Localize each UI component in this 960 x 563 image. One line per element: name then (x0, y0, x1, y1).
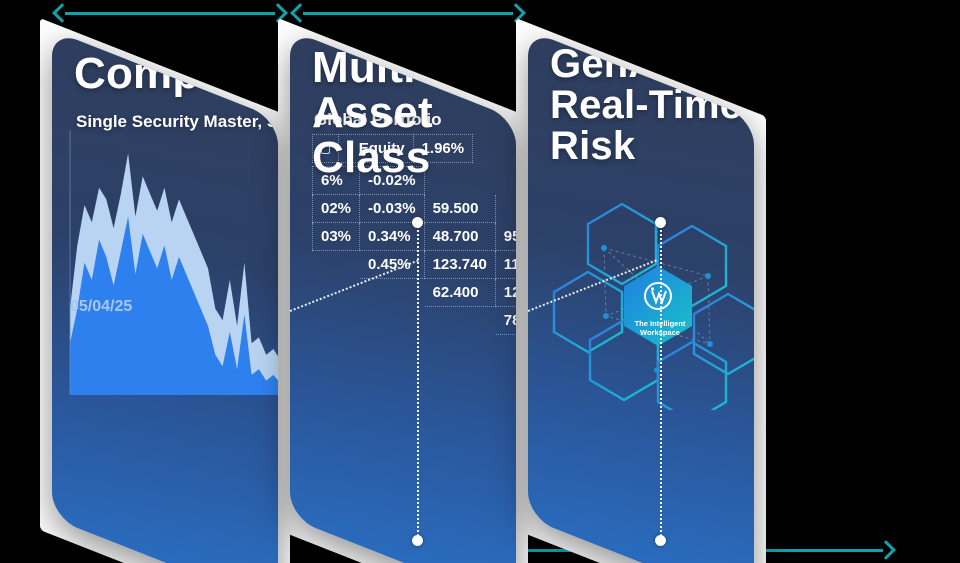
node-dot-bottom-right (655, 535, 666, 546)
card-comprehensive[interactable]: 05/04/25 Comprehensive Single Security M… (52, 30, 278, 563)
hexagon-network-graphic: The Intelligent Workspace (542, 180, 754, 410)
arrow-head-left-icon (293, 5, 305, 21)
table-cell: 112.570 (495, 251, 516, 279)
area-chart (68, 130, 278, 395)
table-cell: 59.500 (424, 195, 495, 223)
arrow-line (303, 12, 513, 15)
table-cell-empty (424, 307, 495, 335)
table-cell: 02% (313, 195, 360, 223)
arrow-head-left-icon (55, 5, 67, 21)
node-dot-bottom-left (412, 535, 423, 546)
table-cell-empty (360, 279, 425, 307)
diagram-canvas: 05/04/25 Comprehensive Single Security M… (0, 0, 960, 563)
table-row[interactable]: 0.45%123.740112.570 (313, 251, 517, 279)
table-cell: 78.300 (495, 307, 516, 335)
table-cell: 03% (313, 223, 360, 251)
table-row[interactable]: 78.300 (313, 307, 517, 335)
top-left-measure (55, 3, 285, 23)
table-cell-empty (313, 251, 360, 279)
hexagon-network-svg (542, 180, 754, 410)
table-cell: 62.400 (424, 279, 495, 307)
portfolio-data-table[interactable]: 6%-0.02%02%-0.03%59.50003%0.34%48.70095.… (312, 166, 516, 335)
table-cell: 48.700 (424, 223, 495, 251)
table-cell: 123.950 (495, 279, 516, 307)
table-body: 6%-0.02%02%-0.03%59.50003%0.34%48.70095.… (313, 167, 517, 335)
arrow-head-right-icon (881, 542, 893, 558)
node-dot-left (412, 217, 423, 228)
table-row[interactable]: 62.400123.950 (313, 279, 517, 307)
area-chart-svg (68, 130, 278, 395)
table-cell: 0.45% (360, 251, 425, 279)
node-dot-right (655, 217, 666, 228)
table-cell-empty (495, 195, 516, 223)
card-subtitle: Single Security Master, Single Data Plan… (76, 112, 278, 132)
table-cell-empty (360, 307, 425, 335)
arrow-line (65, 12, 275, 15)
table-cell: 123.740 (424, 251, 495, 279)
card-title: Multi Asset Class (312, 46, 516, 181)
table-cell-empty (313, 307, 360, 335)
chart-date-label: 05/04/25 (70, 298, 132, 316)
guide-line-left (417, 222, 419, 540)
top-right-measure (293, 3, 523, 23)
table-cell: 95.320 (495, 223, 516, 251)
guide-line-right (660, 222, 662, 540)
